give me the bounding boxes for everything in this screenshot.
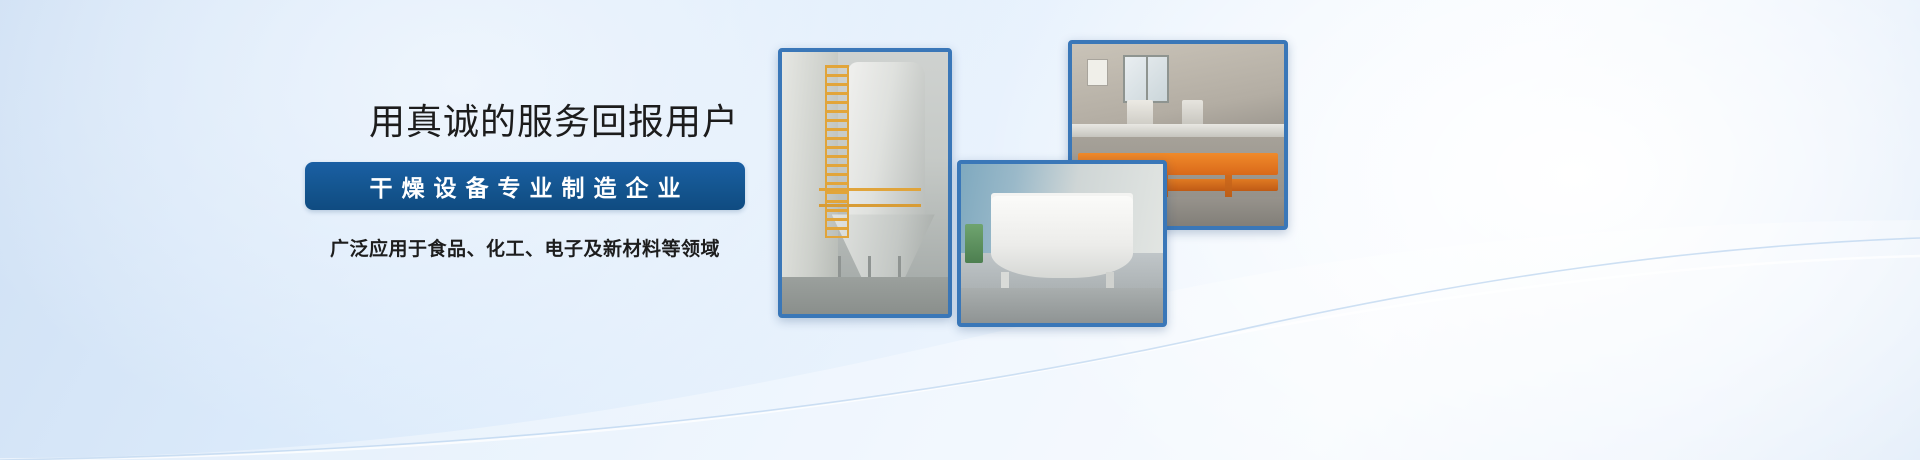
photo-ribbon-mixer [957, 160, 1167, 327]
photo-collage [0, 0, 1920, 460]
promo-banner: 用真诚的服务回报用户 干燥设备专业制造企业 广泛应用于食品、化工、电子及新材料等… [0, 0, 1920, 460]
photo-ribbon-mixer-image [961, 164, 1163, 323]
photo-spray-dryer-image [782, 52, 948, 314]
photo-spray-dryer-tower [778, 48, 952, 318]
